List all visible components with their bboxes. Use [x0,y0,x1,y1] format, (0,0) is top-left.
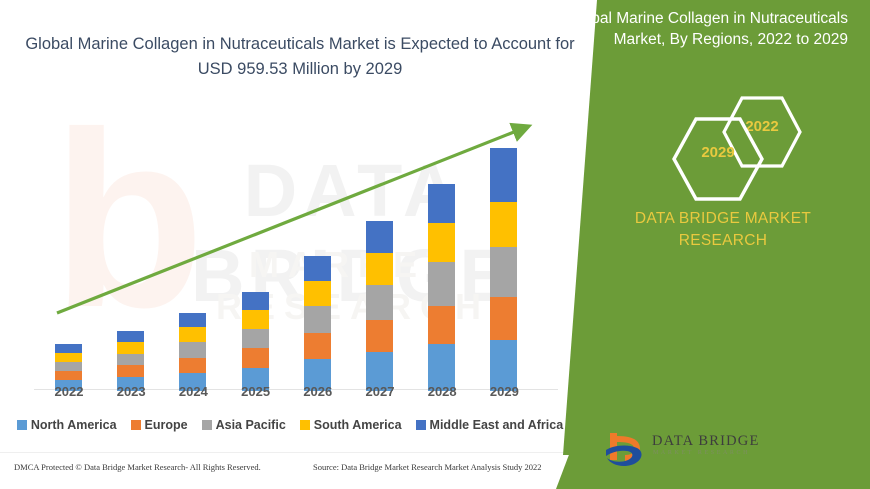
bar-2027 [366,221,393,391]
x-label-2025: 2025 [228,384,284,399]
x-label-2027: 2027 [352,384,408,399]
segment-south-america [55,353,82,362]
segment-asia-pacific [490,247,517,297]
chart-panel: b DATA BRIDGE MARKET RESEARCH Global Mar… [0,0,600,455]
segment-europe [428,306,455,344]
legend-label: Europe [145,418,188,432]
segment-europe [490,297,517,340]
segment-europe [366,320,393,352]
segment-asia-pacific [117,354,144,366]
segment-europe [179,358,206,373]
segment-asia-pacific [179,342,206,357]
legend-swatch-icon [300,420,310,430]
bar-2024 [179,313,206,391]
x-axis-labels: 20222023202420252026202720282029 [34,384,558,404]
segment-asia-pacific [366,285,393,320]
x-label-2023: 2023 [103,384,159,399]
x-label-2022: 2022 [41,384,97,399]
bar-2025 [242,292,269,391]
segment-middle-east-and-africa [179,313,206,327]
segment-asia-pacific [242,329,269,348]
x-label-2024: 2024 [165,384,221,399]
chart-legend: North AmericaEuropeAsia PacificSouth Ame… [0,416,580,434]
legend-swatch-icon [202,420,212,430]
segment-middle-east-and-africa [117,331,144,342]
legend-swatch-icon [131,420,141,430]
segment-south-america [117,342,144,354]
brand-name: DATA BRIDGE MARKET RESEARCH [598,208,848,253]
bar-2029 [490,148,517,391]
footer-copyright: DMCA Protected © Data Bridge Market Rese… [14,462,261,472]
infographic-canvas: b DATA BRIDGE MARKET RESEARCH Global Mar… [0,0,870,489]
legend-label: Middle East and Africa [430,418,564,432]
segment-south-america [242,310,269,328]
legend-swatch-icon [416,420,426,430]
legend-item-south-america[interactable]: South America [300,418,402,432]
segment-middle-east-and-africa [304,256,331,281]
legend-swatch-icon [17,420,27,430]
segment-asia-pacific [55,362,82,371]
segment-south-america [490,202,517,247]
legend-item-asia-pacific[interactable]: Asia Pacific [202,418,286,432]
segment-europe [242,348,269,367]
segment-middle-east-and-africa [490,148,517,202]
legend-item-middle-east-and-africa[interactable]: Middle East and Africa [416,418,564,432]
logo-name: DATA BRIDGE [652,433,760,450]
segment-middle-east-and-africa [366,221,393,253]
segment-europe [55,371,82,380]
hexagon-2029-label: 2029 [672,144,764,161]
brand-line-1: DATA BRIDGE MARKET [598,208,848,230]
legend-label: South America [314,418,402,432]
x-label-2028: 2028 [414,384,470,399]
legend-item-europe[interactable]: Europe [131,418,188,432]
x-label-2029: 2029 [476,384,532,399]
x-label-2026: 2026 [290,384,346,399]
hexagon-2029: 2029 [672,117,764,206]
legend-label: North America [31,418,117,432]
company-logo: DATA BRIDGE MARKET RESEARCH [604,430,779,472]
bar-2026 [304,256,331,391]
stacked-bar-plot [34,100,554,380]
segment-europe [304,333,331,359]
segment-middle-east-and-africa [428,184,455,223]
segment-south-america [304,281,331,306]
segment-south-america [179,327,206,342]
segment-europe [117,365,144,377]
bar-2023 [117,331,144,391]
logo-tagline: MARKET RESEARCH [653,450,750,456]
legend-item-north-america[interactable]: North America [17,418,117,432]
segment-middle-east-and-africa [242,292,269,310]
panel-title: Global Marine Collagen in Nutraceuticals… [558,8,848,51]
segment-south-america [428,223,455,261]
segment-south-america [366,253,393,284]
segment-asia-pacific [304,306,331,333]
legend-label: Asia Pacific [216,418,286,432]
footer-source: Source: Data Bridge Market Research Mark… [313,462,542,472]
segment-middle-east-and-africa [55,344,82,353]
segment-asia-pacific [428,262,455,306]
page-title: Global Marine Collagen in Nutraceuticals… [24,32,576,82]
brand-line-2: RESEARCH [598,230,848,252]
logo-mark-icon [604,430,650,470]
bar-2028 [428,184,455,391]
